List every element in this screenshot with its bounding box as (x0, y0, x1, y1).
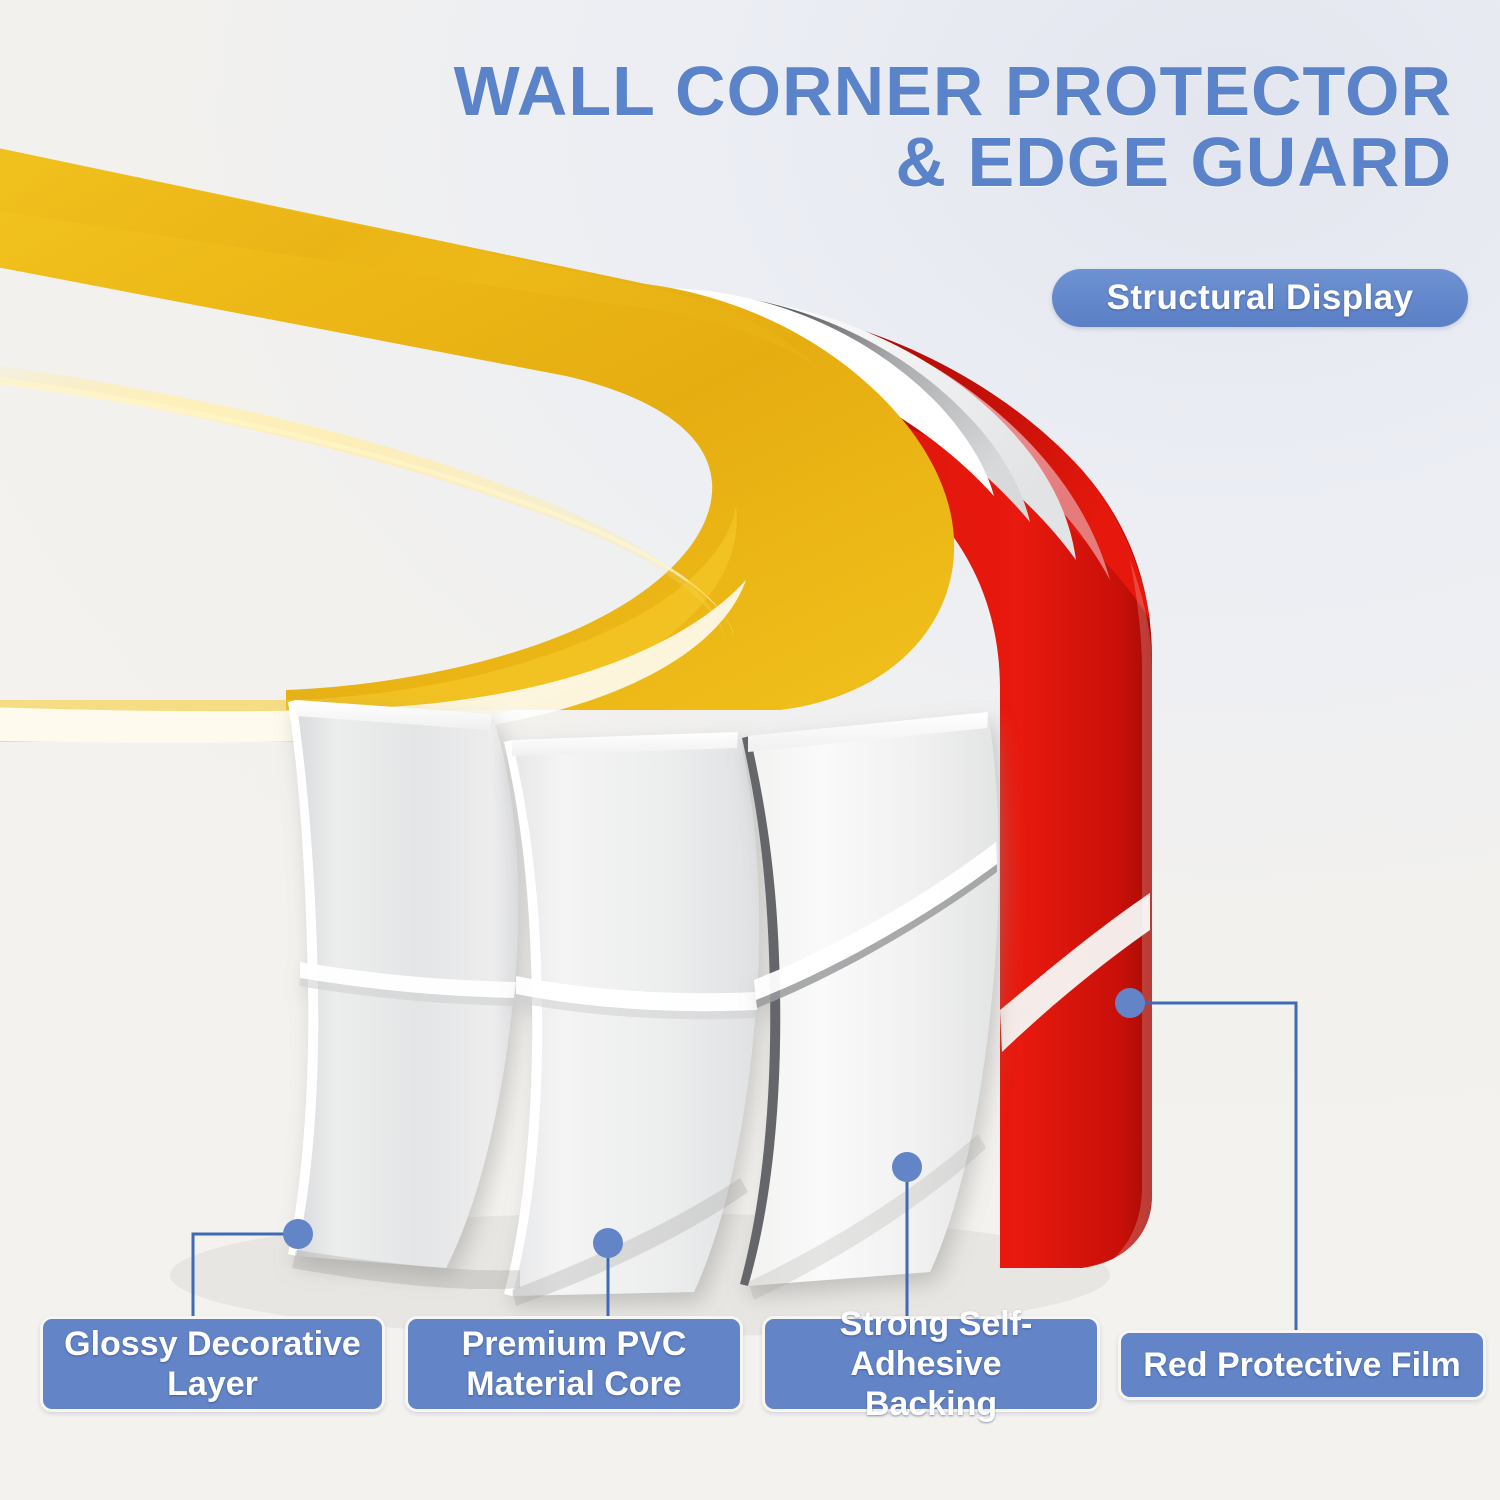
callout-dot-self-adhesive[interactable] (892, 1152, 922, 1182)
callout-label-red-protective-film[interactable]: Red Protective Film (1118, 1330, 1486, 1400)
callout-label-text: Glossy DecorativeLayer (44, 1324, 381, 1404)
callout-dot-glossy-decorative[interactable] (283, 1219, 313, 1249)
callout-label-text: Strong Self-AdhesiveBacking (765, 1304, 1097, 1424)
callout-label-text: Premium PVCMaterial Core (442, 1324, 707, 1404)
structural-display-badge-label: Structural Display (1107, 278, 1414, 318)
leader-line-self-adhesive (892, 1152, 922, 1318)
leader-line-red-film (1115, 988, 1296, 1330)
infographic-canvas: WALL CORNER PROTECTOR & EDGE GUARD Struc… (0, 0, 1500, 1500)
callout-label-premium-pvc-material-core[interactable]: Premium PVCMaterial Core (405, 1316, 743, 1412)
callout-dot-red-film[interactable] (1115, 988, 1145, 1018)
callout-leader-lines (0, 0, 1500, 1500)
structural-display-badge: Structural Display (1052, 269, 1468, 327)
callout-label-text: Red Protective Film (1123, 1345, 1480, 1385)
callout-label-glossy-decorative-layer[interactable]: Glossy DecorativeLayer (40, 1316, 385, 1412)
callout-dot-premium-pvc[interactable] (593, 1228, 623, 1258)
leader-line-premium-pvc (593, 1228, 623, 1318)
callout-label-strong-self-adhesive-backing[interactable]: Strong Self-AdhesiveBacking (762, 1316, 1100, 1412)
leader-line-glossy-decorative (193, 1219, 313, 1318)
